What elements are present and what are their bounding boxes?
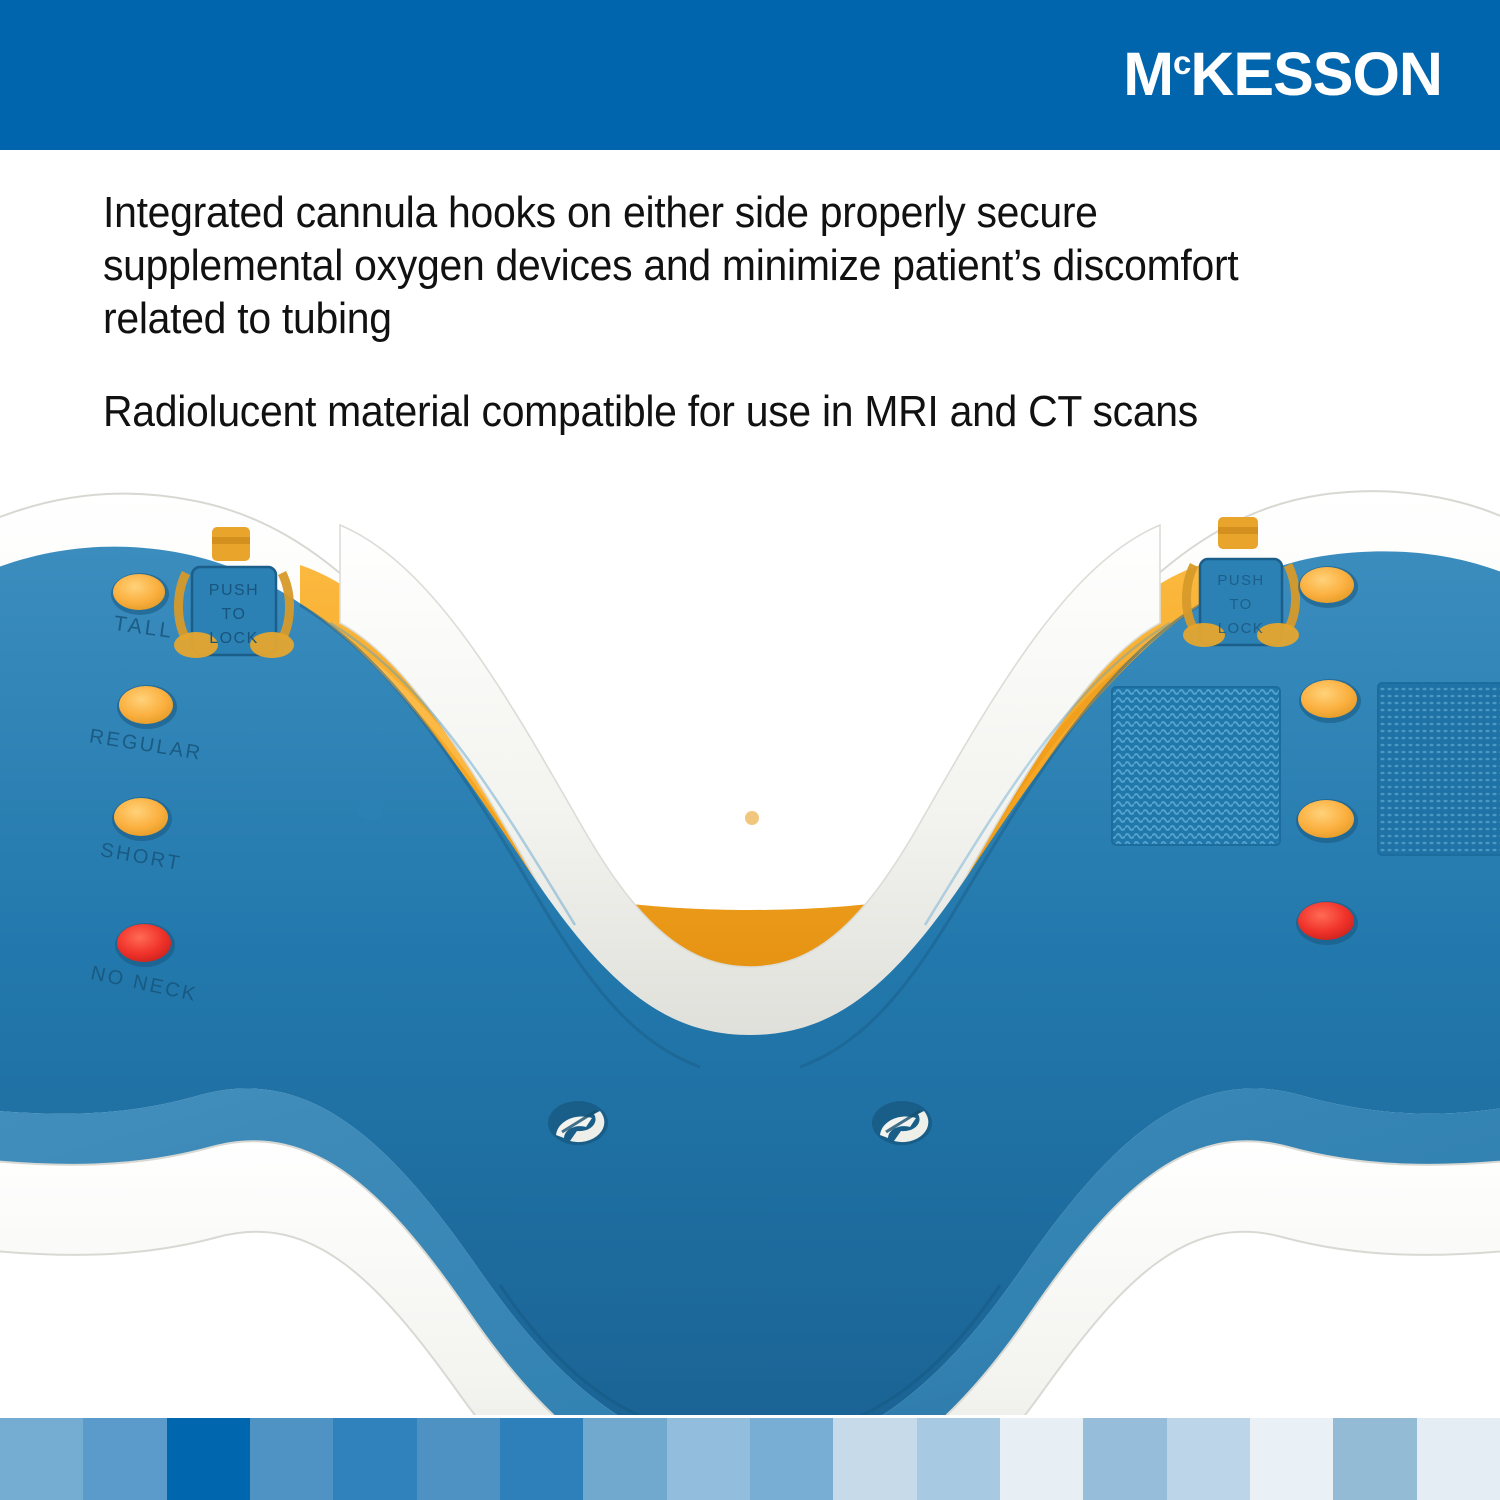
cannula-hook-slot-right xyxy=(872,1101,932,1145)
product-image-stage: TALL REGULAR SHORT xyxy=(0,455,1500,1415)
velcro-strap-patch xyxy=(1112,687,1280,845)
color-swatch-17 xyxy=(1333,1418,1416,1500)
velcro-loop-patch xyxy=(1378,683,1500,855)
color-swatch-3 xyxy=(167,1418,250,1500)
cervical-collar-illustration: TALL REGULAR SHORT xyxy=(0,455,1500,1415)
logo-superscript-c: c xyxy=(1173,46,1190,79)
feature-paragraph-2: Radiolucent material compatible for use … xyxy=(103,385,1312,438)
lock-text-push: PUSH xyxy=(209,582,259,599)
lock-text-to: TO xyxy=(222,606,247,623)
product-feature-card: McKESSON Integrated cannula hooks on eit… xyxy=(0,0,1500,1500)
color-swatch-4 xyxy=(250,1418,333,1500)
color-swatch-15 xyxy=(1167,1418,1250,1500)
color-swatch-2 xyxy=(83,1418,166,1500)
color-swatch-11 xyxy=(833,1418,916,1500)
color-swatch-12 xyxy=(917,1418,1000,1500)
size-dot-short-right xyxy=(1296,799,1358,843)
color-swatch-16 xyxy=(1250,1418,1333,1500)
brand-header-bar: McKESSON xyxy=(0,0,1500,150)
size-dot-no-neck-right xyxy=(1296,901,1358,945)
mold-dimple-left xyxy=(357,800,383,820)
size-dot-tall-right xyxy=(1298,566,1358,608)
color-swatch-9 xyxy=(667,1418,750,1500)
cannula-hook-slot-left xyxy=(548,1101,608,1145)
color-swatch-6 xyxy=(417,1418,500,1500)
color-swatch-8 xyxy=(583,1418,666,1500)
svg-text:TO: TO xyxy=(1229,596,1252,613)
svg-text:PUSH: PUSH xyxy=(1217,572,1264,589)
color-swatch-5 xyxy=(333,1418,416,1500)
color-swatch-14 xyxy=(1083,1418,1166,1500)
logo-text-part-2: KESSON xyxy=(1190,44,1442,105)
feature-paragraph-1: Integrated cannula hooks on either side … xyxy=(103,186,1312,345)
lock-text-lock: LOCK xyxy=(209,630,259,647)
mckesson-logo: McKESSON xyxy=(1123,44,1442,105)
color-swatch-13 xyxy=(1000,1418,1083,1500)
color-swatch-1 xyxy=(0,1418,83,1500)
color-swatch-18 xyxy=(1417,1418,1500,1500)
feature-copy-block: Integrated cannula hooks on either side … xyxy=(103,186,1403,438)
svg-text:LOCK: LOCK xyxy=(1218,620,1264,637)
size-dot-regular-right xyxy=(1299,679,1361,723)
color-swatch-10 xyxy=(750,1418,833,1500)
color-swatch-7 xyxy=(500,1418,583,1500)
brand-color-swatch-strip xyxy=(0,1418,1500,1500)
logo-text-part-1: M xyxy=(1123,44,1173,105)
rivet-center xyxy=(745,811,759,825)
